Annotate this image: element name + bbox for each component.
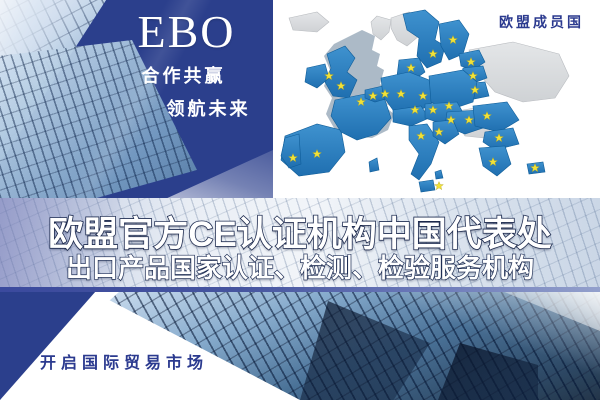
brand-slogan-line2: 领航未来 xyxy=(104,95,269,121)
headline-band: 欧盟官方CE认证机构中国代表处 出口产品国家认证、检测、检验服务机构 xyxy=(0,198,600,292)
headline-secondary: 出口产品国家认证、检测、检验服务机构 xyxy=(0,248,600,285)
eu-member-states-map-icon xyxy=(273,6,600,198)
brand-name: EBO xyxy=(104,8,269,56)
footer-slogan: 开启国际贸易市场 xyxy=(40,349,208,373)
brand-panel: EBO 合作共赢 领航未来 xyxy=(0,0,273,200)
brand-slogan-line1: 合作共赢 xyxy=(104,62,269,88)
brand-block: EBO 合作共赢 领航未来 xyxy=(104,8,269,121)
eu-map-panel: 欧盟成员国 xyxy=(273,0,600,200)
band-underline xyxy=(0,287,600,292)
footer-panel: 开启国际贸易市场 xyxy=(0,291,600,400)
promotional-banner: EBO 合作共赢 领航未来 欧盟成员国 xyxy=(0,0,600,400)
